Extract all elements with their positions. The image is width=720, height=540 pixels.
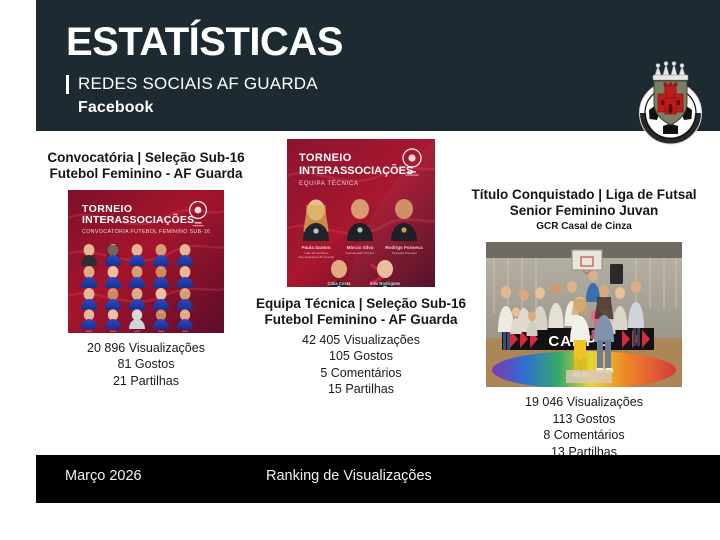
svg-text:•••••••: ••••••• xyxy=(182,267,188,270)
header-network-label: Facebook xyxy=(78,99,154,117)
stat-comments: 8 Comentários xyxy=(455,427,713,444)
post-media-convocatoria: TORNEIO INTERASSOCIAÇÕES CONVOCATÓRIA FU… xyxy=(68,190,224,333)
svg-text:•••••••: ••••••• xyxy=(110,330,116,333)
post-card-titulo-futsal: Título Conquistado | Liga de Futsal Seni… xyxy=(455,187,713,460)
post-media-equipa-tecnica: TORNEIO INTERASSOCIAÇÕES EQUIPA TÉCNICA xyxy=(287,139,435,287)
post-caption-line2: Senior Feminino Juvan xyxy=(455,203,713,219)
post-stats: 19 046 Visualizações 113 Gostos 8 Coment… xyxy=(455,394,713,460)
stat-likes: 113 Gostos xyxy=(455,411,713,428)
svg-text:Rodrigo Fonseca: Rodrigo Fonseca xyxy=(385,245,423,250)
svg-text:•••••••: ••••••• xyxy=(158,267,164,270)
svg-text:Cátia Costa: Cátia Costa xyxy=(327,281,351,286)
svg-text:•••••••: ••••••• xyxy=(182,330,188,333)
post-caption-line1: Título Conquistado | Liga de Futsal xyxy=(455,187,713,203)
slide-root: ESTATÍSTICAS REDES SOCIAIS AF GUARDA Fac… xyxy=(0,0,720,540)
stat-views: 42 405 Visualizações xyxy=(235,332,487,349)
slide-header: ESTATÍSTICAS REDES SOCIAIS AF GUARDA Fac… xyxy=(36,0,720,131)
header-subtitle: REDES SOCIAIS AF GUARDA xyxy=(78,74,318,94)
svg-text:•••••••: ••••••• xyxy=(134,311,140,314)
svg-text:•••••••: ••••••• xyxy=(134,289,140,292)
svg-text:•••••••: ••••••• xyxy=(86,289,92,292)
svg-text:EQUIPA TÉCNICA: EQUIPA TÉCNICA xyxy=(299,180,359,187)
svg-text:Coordenador Técnico: Coordenador Técnico xyxy=(346,251,375,255)
stat-likes: 105 Gostos xyxy=(235,348,487,365)
svg-text:•••••••: ••••••• xyxy=(182,311,188,314)
page-title: ESTATÍSTICAS xyxy=(66,22,343,62)
post-caption: Título Conquistado | Liga de Futsal Seni… xyxy=(455,187,713,233)
post-caption-line1: Equipa Técnica | Seleção Sub-16 xyxy=(235,296,487,312)
svg-text:•••••••: ••••••• xyxy=(86,330,92,333)
slide-footer: Março 2026 Ranking de Visualizações xyxy=(36,455,720,503)
stat-comments: 5 Comentários xyxy=(235,365,487,382)
footer-month-label: Março 2026 xyxy=(65,468,142,484)
svg-text:CONVOCATÓRIA FUTEBOL FEMININO: CONVOCATÓRIA FUTEBOL FEMININO SUB-16 xyxy=(82,228,210,235)
svg-text:Paula Santos: Paula Santos xyxy=(302,245,331,250)
svg-text:•••••••: ••••••• xyxy=(86,311,92,314)
svg-text:Treinador Principal: Treinador Principal xyxy=(391,251,416,255)
svg-text:•••••••: ••••••• xyxy=(158,289,164,292)
post-caption-line2: Futebol Feminino - AF Guarda xyxy=(235,312,487,328)
svg-text:•••••••: ••••••• xyxy=(110,267,116,270)
stat-views: 19 046 Visualizações xyxy=(455,394,713,411)
header-subtitle-row: REDES SOCIAIS AF GUARDA xyxy=(66,74,318,94)
post-caption-club: GCR Casal de Cinza xyxy=(455,221,713,233)
svg-text:INTERASSOCIAÇÕES: INTERASSOCIAÇÕES xyxy=(82,213,194,226)
svg-text:•••••••: ••••••• xyxy=(158,311,164,314)
post-stats: 42 405 Visualizações 105 Gostos 5 Coment… xyxy=(235,332,487,398)
svg-text:INTERASSOCIAÇÕES: INTERASSOCIAÇÕES xyxy=(299,164,413,177)
af-guarda-crest-icon xyxy=(634,58,707,146)
post-media-titulo-futsal: CAMPE xyxy=(486,242,682,387)
accent-bar-icon xyxy=(66,75,69,94)
svg-text:Márcio Silva: Márcio Silva xyxy=(347,245,374,250)
svg-text:TORNEIO: TORNEIO xyxy=(299,152,352,164)
svg-text:•••••••: ••••••• xyxy=(110,311,116,314)
footer-ranking-label: Ranking de Visualizações xyxy=(266,468,432,484)
svg-text:•••••••: ••••••• xyxy=(182,289,188,292)
svg-text:•••••••: ••••••• xyxy=(134,267,140,270)
svg-text:•••••••: ••••••• xyxy=(110,289,116,292)
post-caption: Equipa Técnica | Seleção Sub-16 Futebol … xyxy=(235,296,487,329)
svg-text:Inês Rodrigues: Inês Rodrigues xyxy=(370,281,401,286)
svg-text:•••••••: ••••••• xyxy=(134,330,140,333)
svg-text:Vice-presidente AF Guarda: Vice-presidente AF Guarda xyxy=(298,255,334,259)
stat-shares: 15 Partilhas xyxy=(235,381,487,398)
svg-text:•••••••: ••••••• xyxy=(86,267,92,270)
post-card-equipa-tecnica: TORNEIO INTERASSOCIAÇÕES EQUIPA TÉCNICA xyxy=(235,139,487,398)
svg-text:•••••••: ••••••• xyxy=(158,330,164,333)
